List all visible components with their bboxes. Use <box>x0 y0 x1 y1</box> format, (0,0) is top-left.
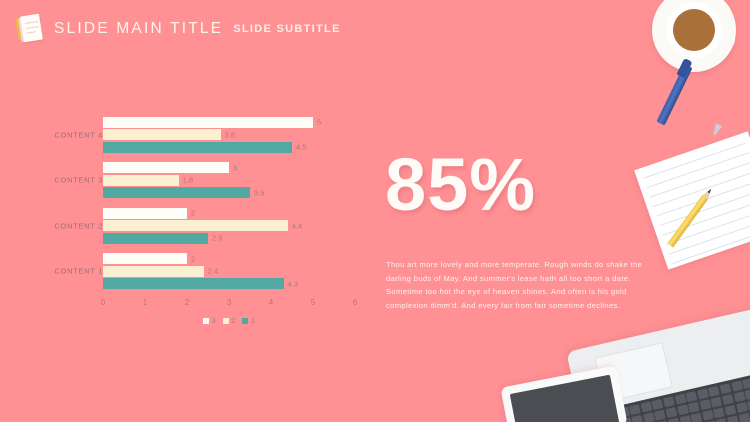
chart-bar-value: 3 <box>229 163 237 172</box>
chart-category-label: CONTENT 2 <box>30 221 103 230</box>
bar-chart: CONTENT 4CONTENT 3CONTENT 2CONTENT 1 52.… <box>30 112 370 327</box>
chart-x-axis: 0123456 <box>103 298 355 312</box>
chart-bar[interactable] <box>103 129 221 140</box>
chart-bar-row: 2 <box>103 253 355 264</box>
laptop-key <box>679 415 691 422</box>
laptop-key <box>742 378 750 389</box>
laptop-key <box>632 415 644 422</box>
laptop-key <box>643 412 655 422</box>
laptop-key <box>731 381 743 392</box>
chart-bar-row: 5 <box>103 117 355 128</box>
chart-bar-row: 4.3 <box>103 278 355 289</box>
chart-group: 24.42.5 <box>103 208 355 244</box>
chart-bar[interactable] <box>103 187 250 198</box>
chart-x-tick: 5 <box>311 298 315 307</box>
laptop-key <box>708 386 720 397</box>
chart-bar[interactable] <box>103 162 229 173</box>
chart-bar[interactable] <box>103 117 313 128</box>
chart-bar-value: 2 <box>187 209 195 218</box>
chart-bar[interactable] <box>103 175 179 186</box>
laptop-key <box>699 399 711 410</box>
laptop-key <box>720 383 732 394</box>
chart-category-axis: CONTENT 4CONTENT 3CONTENT 2CONTENT 1 <box>30 112 103 294</box>
chart-plot-area: 52.84.531.83.524.42.522.44.3 <box>103 112 355 294</box>
chart-legend-item[interactable]: 2 <box>223 316 236 325</box>
chart-x-tick: 4 <box>269 298 273 307</box>
laptop-key <box>677 404 689 415</box>
laptop-key <box>674 394 686 405</box>
chart-bar[interactable] <box>103 253 187 264</box>
chart-bar-row: 3.5 <box>103 187 355 198</box>
chart-bar-value: 2 <box>187 254 195 263</box>
chart-bar[interactable] <box>103 142 292 153</box>
chart-bar-row: 2 <box>103 208 355 219</box>
chart-bar[interactable] <box>103 220 288 231</box>
chart-bar-row: 4.4 <box>103 220 355 231</box>
laptop-key <box>697 388 709 399</box>
chart-bar-value: 2.5 <box>208 234 222 243</box>
chart-legend-label: 1 <box>251 316 255 325</box>
chart-bar[interactable] <box>103 208 187 219</box>
chart-bar-value: 3.5 <box>250 188 264 197</box>
page-subtitle: SLIDE SUBTITLE <box>233 23 340 35</box>
laptop-key <box>733 391 745 402</box>
laptop-key <box>702 410 714 421</box>
notepad-icon <box>18 14 44 44</box>
chart-legend-swatch <box>242 318 248 324</box>
laptop-key <box>629 404 641 415</box>
chart-group: 22.44.3 <box>103 253 355 289</box>
slide-canvas: SLIDE MAIN TITLE SLIDE SUBTITLE CONTENT … <box>0 0 750 422</box>
chart-group: 31.83.5 <box>103 162 355 198</box>
chart-x-tick: 0 <box>101 298 105 307</box>
laptop-key <box>727 415 739 422</box>
laptop-key <box>711 397 723 408</box>
percent-highlight: 85% <box>385 148 536 222</box>
slide-header: SLIDE MAIN TITLE SLIDE SUBTITLE <box>18 14 341 44</box>
chart-legend-item[interactable]: 1 <box>242 316 255 325</box>
laptop-key <box>688 402 700 413</box>
laptop-key <box>736 402 748 413</box>
laptop-key <box>716 418 728 422</box>
laptop-key <box>738 413 750 422</box>
chart-bar[interactable] <box>103 278 284 289</box>
laptop-key <box>691 412 703 422</box>
chart-bar-value: 4.4 <box>288 221 302 230</box>
chart-bar-row: 3 <box>103 162 355 173</box>
laptop-key <box>668 418 680 422</box>
chart-bar-row: 4.5 <box>103 142 355 153</box>
page-title: SLIDE MAIN TITLE <box>54 20 223 38</box>
chart-legend: 321 <box>103 316 355 325</box>
laptop-key <box>654 410 666 421</box>
chart-legend-item[interactable]: 3 <box>203 316 216 325</box>
body-paragraph: Thou art more lovely and more temperate.… <box>386 258 660 312</box>
chart-legend-swatch <box>223 318 229 324</box>
chart-group: 52.84.5 <box>103 117 355 153</box>
chart-x-tick: 3 <box>227 298 231 307</box>
laptop-key <box>686 391 698 402</box>
chart-x-tick: 6 <box>353 298 357 307</box>
chart-bar-value: 4.5 <box>292 143 306 152</box>
chart-category-label: CONTENT 1 <box>30 267 103 276</box>
laptop-key <box>713 407 725 418</box>
laptop-key <box>663 396 675 407</box>
chart-x-tick: 1 <box>143 298 147 307</box>
laptop-key <box>722 394 734 405</box>
chart-bar-value: 4.3 <box>284 279 298 288</box>
chart-bar-value: 1.8 <box>179 176 193 185</box>
chart-bar-value: 2.8 <box>221 130 235 139</box>
laptop-key <box>640 401 652 412</box>
laptop-key <box>725 405 737 416</box>
laptop-key <box>666 407 678 418</box>
chart-bar[interactable] <box>103 233 208 244</box>
blue-pen-icon <box>670 62 740 140</box>
chart-bar-row: 2.8 <box>103 129 355 140</box>
laptop-key <box>652 399 664 410</box>
chart-category-label: CONTENT 3 <box>30 176 103 185</box>
chart-category-label: CONTENT 4 <box>30 130 103 139</box>
laptop-key <box>745 389 750 400</box>
chart-bar-row: 2.4 <box>103 266 355 277</box>
chart-legend-label: 3 <box>211 316 215 325</box>
chart-legend-label: 2 <box>231 316 235 325</box>
chart-bar[interactable] <box>103 266 204 277</box>
chart-bar-value: 2.4 <box>204 267 218 276</box>
chart-bar-row: 2.5 <box>103 233 355 244</box>
chart-bar-value: 5 <box>313 118 321 127</box>
chart-bar-row: 1.8 <box>103 175 355 186</box>
tablet-icon <box>500 365 627 422</box>
chart-x-tick: 2 <box>185 298 189 307</box>
chart-legend-swatch <box>203 318 209 324</box>
